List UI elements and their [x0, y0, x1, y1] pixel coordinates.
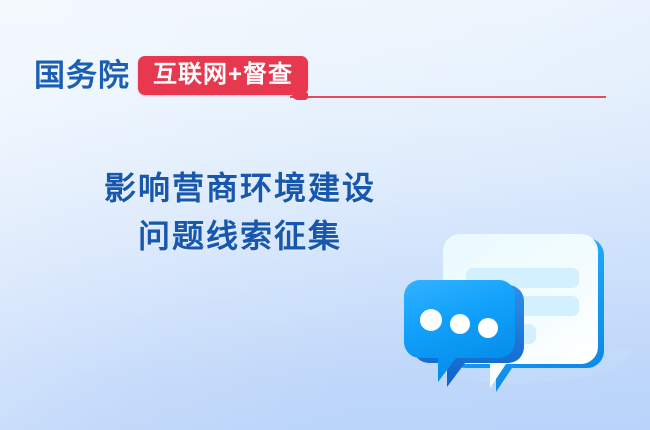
page-title-line-2: 问题线索征集 [0, 216, 480, 256]
banner-header: 国务院 互联网+督查 [34, 52, 308, 98]
page-title-line-1: 影响营商环境建设 [0, 168, 480, 208]
page-title: 影响营商环境建设 问题线索征集 [0, 168, 480, 256]
typing-dot-2 [450, 314, 470, 334]
brand-title: 国务院 [34, 60, 130, 91]
banner-root: 国务院 互联网+督查 影响营商环境建设 问题线索征集 [0, 0, 650, 430]
typing-dot-1 [420, 309, 442, 331]
header-divider-rule [290, 96, 606, 98]
program-badge: 互联网+督查 [138, 56, 308, 95]
typing-dot-3 [478, 318, 498, 338]
program-badge-label: 互联网+督查 [153, 63, 293, 87]
